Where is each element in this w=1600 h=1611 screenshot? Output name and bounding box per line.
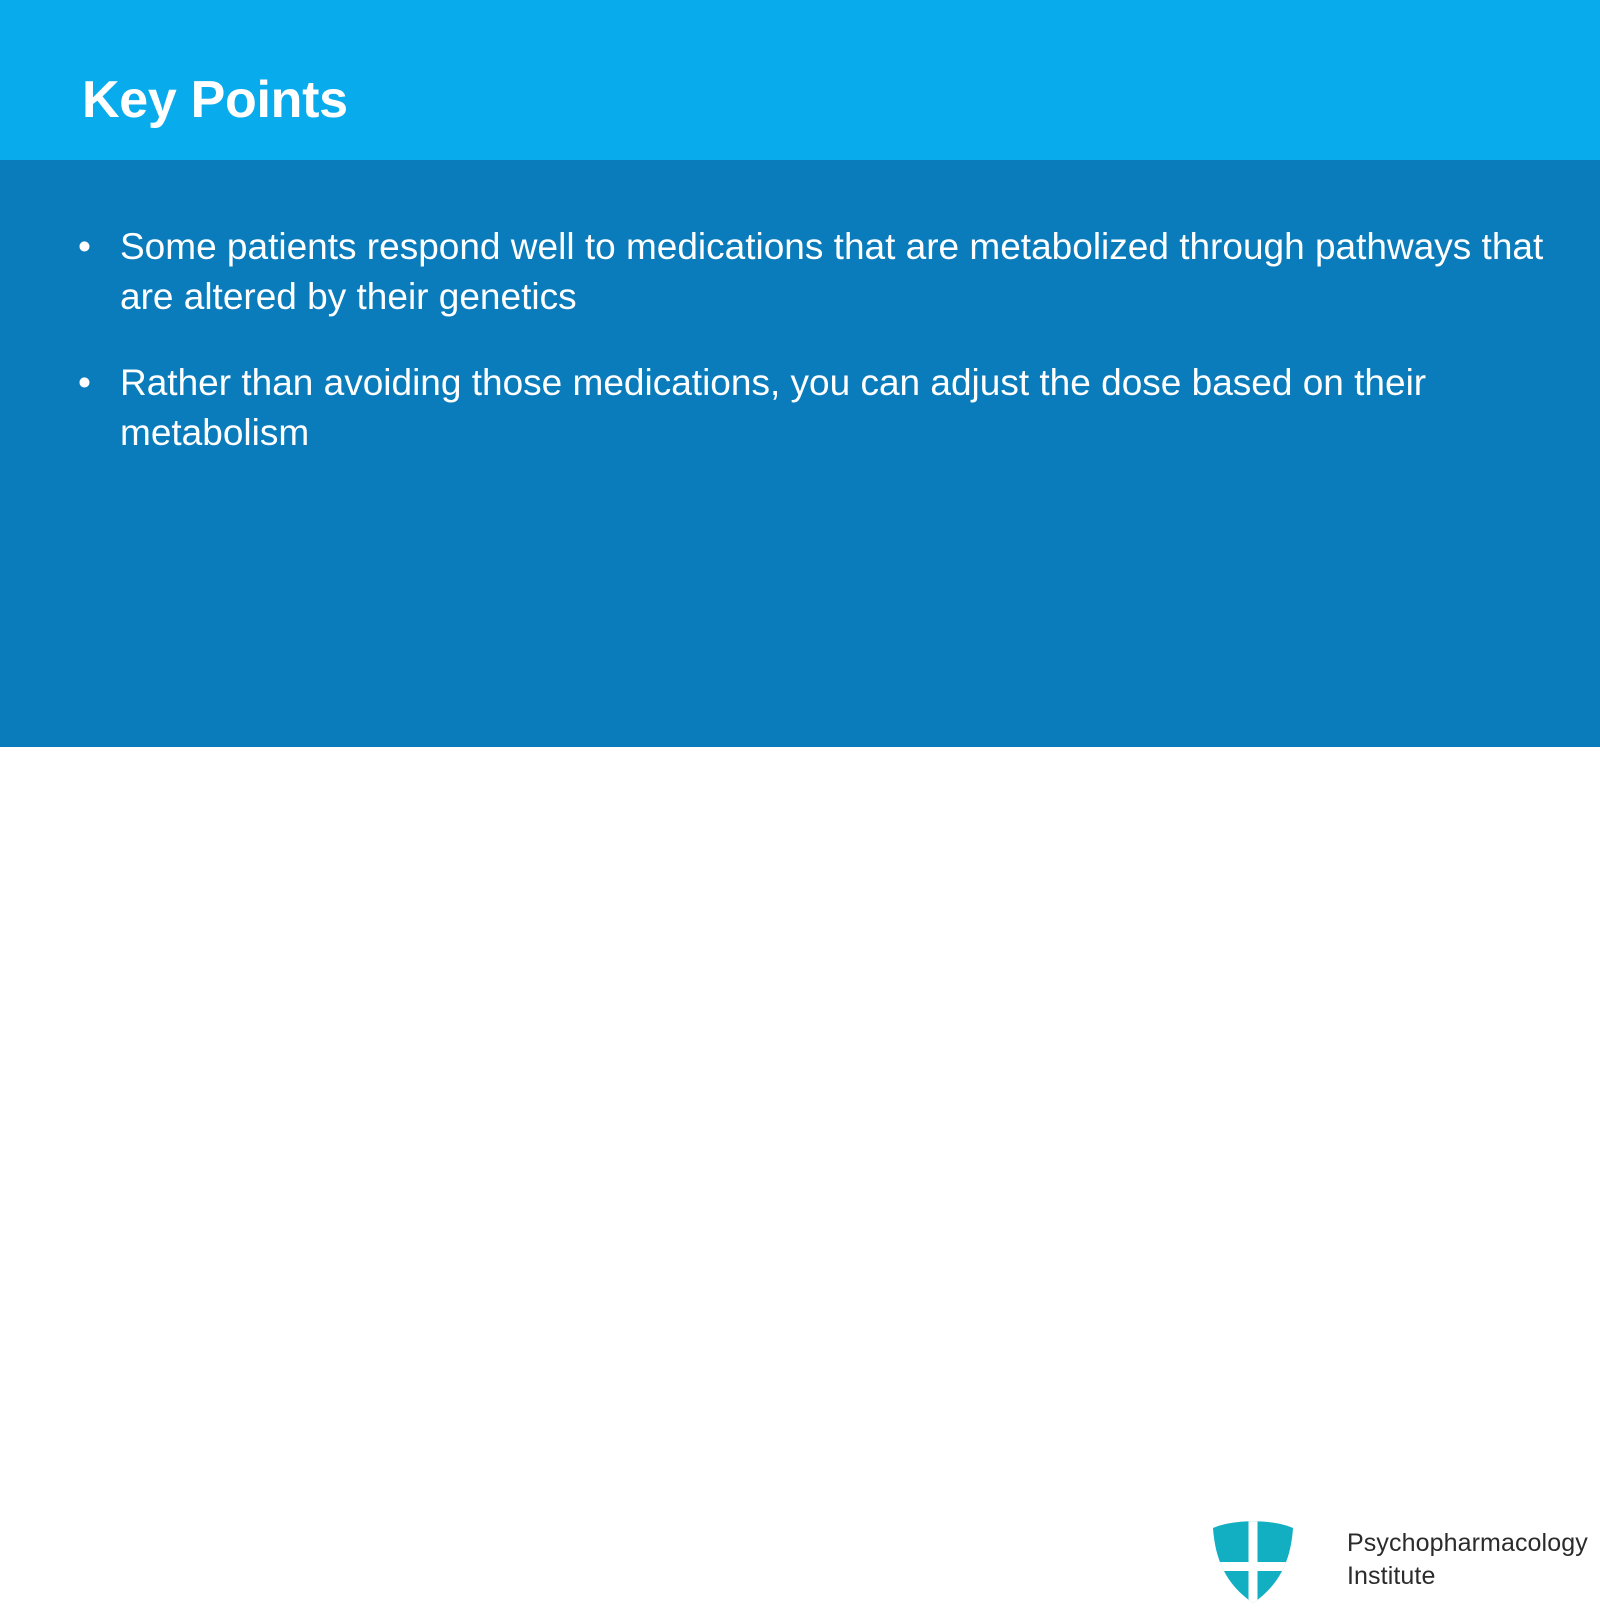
list-item: • Rather than avoiding those medications… [70, 358, 1560, 458]
brand-wordmark: Psychopharmacology Institute [1347, 1527, 1588, 1593]
presentation-slide: Key Points • Some patients respond well … [0, 0, 1600, 899]
slide-body: • Some patients respond well to medicati… [0, 160, 1600, 747]
brand-logo: Psychopharmacology Institute [1205, 1510, 1550, 1610]
bullet-point-icon: • [78, 222, 108, 272]
slide-header-band: Key Points [0, 0, 1600, 160]
slide-title: Key Points [82, 72, 348, 129]
shield-icon [1205, 1510, 1301, 1606]
bullet-text: Rather than avoiding those medications, … [120, 358, 1560, 458]
bullet-list: • Some patients respond well to medicati… [70, 222, 1560, 494]
brand-name-line-2: Institute [1347, 1560, 1588, 1593]
list-item: • Some patients respond well to medicati… [70, 222, 1560, 322]
bullet-point-icon: • [78, 358, 108, 408]
slide-footer: Psychopharmacology Institute [0, 747, 1600, 899]
bullet-text: Some patients respond well to medication… [120, 222, 1560, 322]
brand-name-line-1: Psychopharmacology [1347, 1529, 1588, 1557]
